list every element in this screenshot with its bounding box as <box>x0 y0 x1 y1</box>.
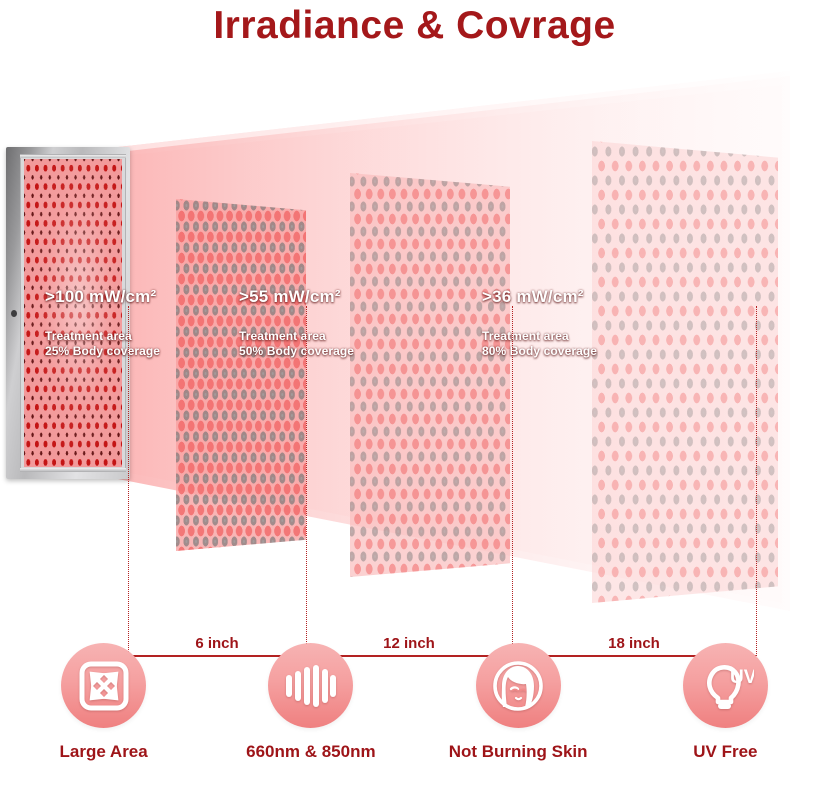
feature-not-burning-skin: Not Burning Skin <box>418 643 618 762</box>
treatment-area-label: Treatment area <box>45 329 160 343</box>
infographic-root: Irradiance & Covrage <box>0 0 829 807</box>
panel-bar-top <box>20 155 126 158</box>
ruler-tick-6in <box>306 306 307 656</box>
projection-face <box>176 199 306 551</box>
uv-bulb-icon: UV <box>696 658 754 714</box>
feature-row: Large Area 66 <box>0 643 829 807</box>
irradiance-value: >100 mW/cm² <box>45 287 160 307</box>
projection-texture <box>176 199 306 551</box>
feature-label: UV Free <box>625 742 825 762</box>
feature-label: Not Burning Skin <box>418 742 618 762</box>
irradiance-value: >55 mW/cm² <box>239 287 354 307</box>
projection-plane-18in <box>592 141 778 603</box>
ruler-tick-12in <box>512 306 513 656</box>
feature-badge <box>476 643 561 728</box>
feature-badge <box>61 643 146 728</box>
panel-screw <box>11 310 17 317</box>
irradiance-diagram: >100 mW/cm² Treatment area 25% Body cove… <box>0 55 829 615</box>
waveform-icon <box>283 663 339 709</box>
body-coverage-label: 80% Body coverage <box>482 344 597 358</box>
callout-panel-1: >55 mW/cm² Treatment area 50% Body cover… <box>239 287 354 358</box>
feature-label: Large Area <box>4 742 204 762</box>
projection-texture <box>592 141 778 603</box>
treatment-area-label: Treatment area <box>239 329 354 343</box>
panel-bar-bottom <box>20 468 126 471</box>
body-coverage-label: 50% Body coverage <box>239 344 354 358</box>
feature-large-area: Large Area <box>4 643 204 762</box>
projection-plane-6in <box>176 199 306 551</box>
irradiance-value: >36 mW/cm² <box>482 287 597 307</box>
feature-badge <box>268 643 353 728</box>
ruler-tick-18in <box>756 306 757 656</box>
expand-arrows-icon <box>77 659 131 713</box>
face-icon <box>489 657 547 715</box>
feature-badge: UV <box>683 643 768 728</box>
projection-texture <box>350 173 510 577</box>
callout-panel-0: >100 mW/cm² Treatment area 25% Body cove… <box>45 287 160 358</box>
treatment-area-label: Treatment area <box>482 329 597 343</box>
callout-panel-2: >36 mW/cm² Treatment area 80% Body cover… <box>482 287 597 358</box>
feature-uv-free: UV UV Free <box>625 643 825 762</box>
ruler-tick-start <box>128 306 129 656</box>
svg-text:UV: UV <box>730 667 754 688</box>
projection-face <box>350 173 510 577</box>
body-coverage-label: 25% Body coverage <box>45 344 160 358</box>
projection-plane-12in <box>350 173 510 577</box>
page-title: Irradiance & Covrage <box>0 4 829 48</box>
feature-wavelengths: 660nm & 850nm <box>211 643 411 762</box>
feature-label: 660nm & 850nm <box>211 742 411 762</box>
projection-face <box>592 141 778 603</box>
